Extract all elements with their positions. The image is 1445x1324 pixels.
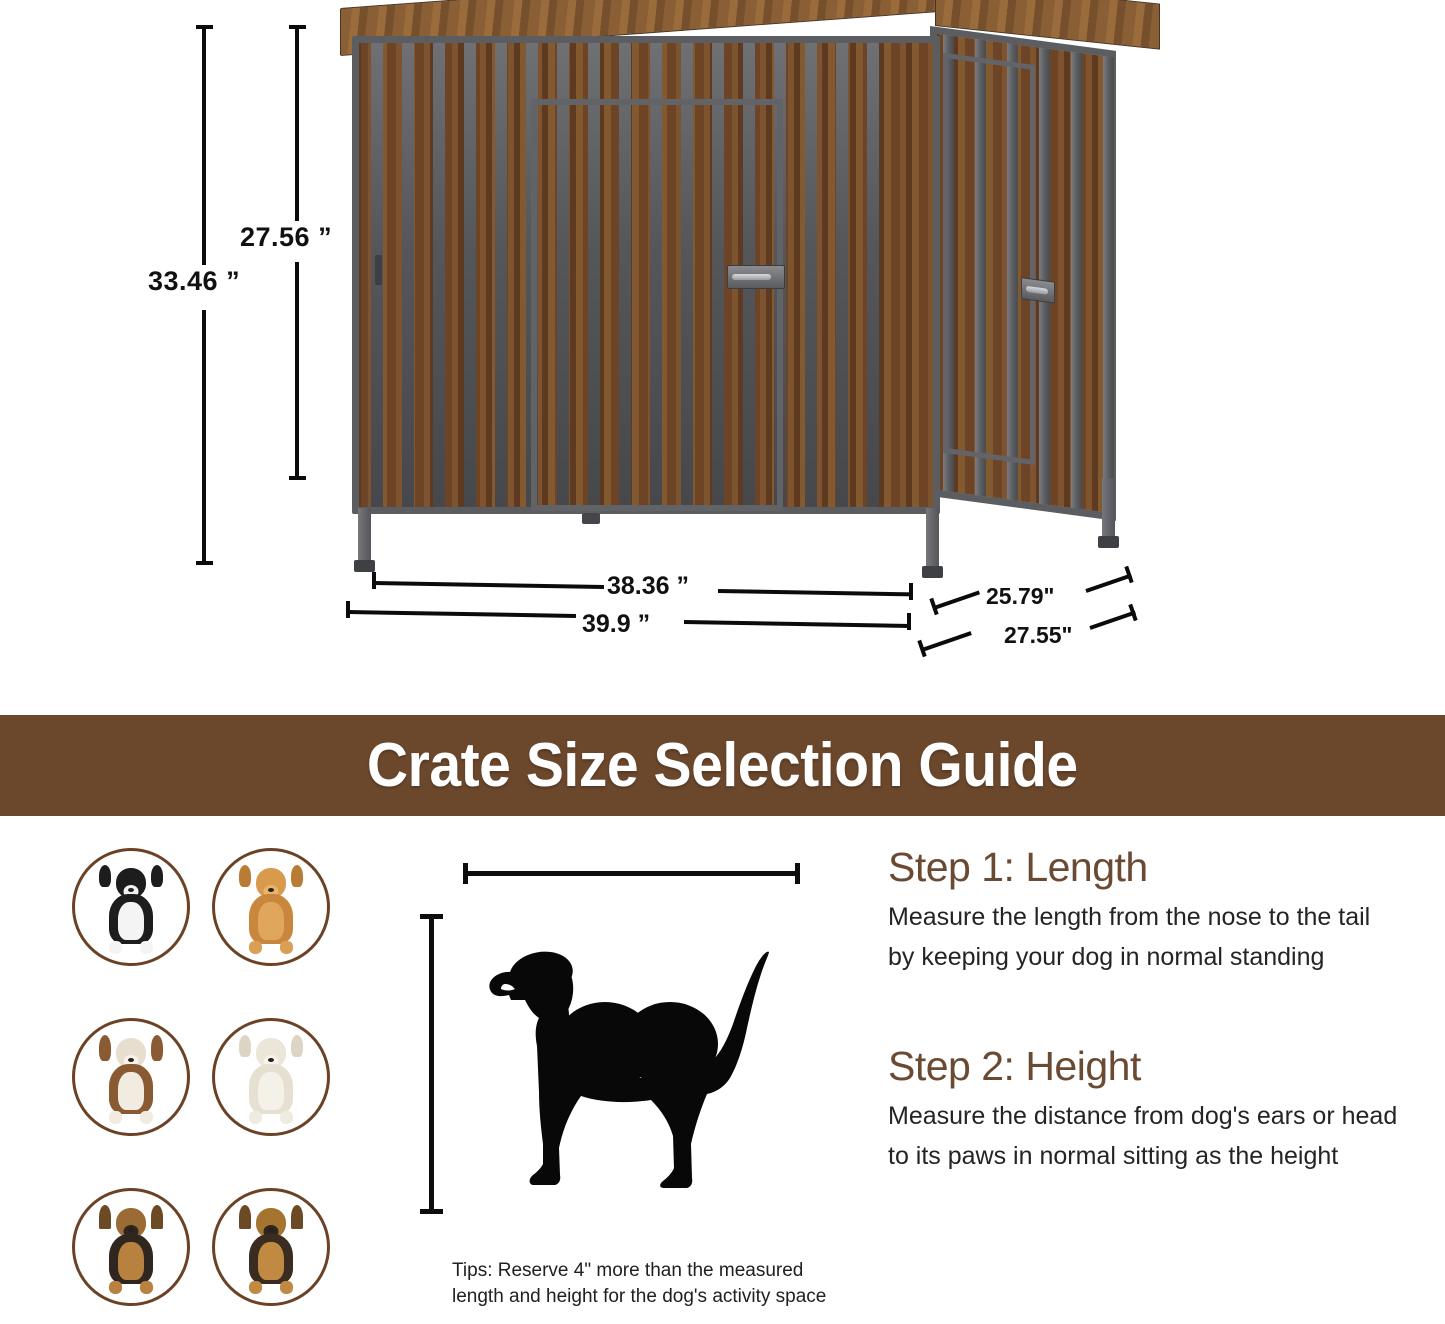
golden-retriever-image [240,868,302,954]
height-inner-label: 27.56 ” [240,222,332,253]
width-outer-cap-left [346,601,350,618]
breed-circle-border-collie [72,848,190,966]
crate-front-latch[interactable] [727,265,785,289]
height-outer-label: 33.46 ” [148,266,240,297]
crate-leg-back-right [1102,478,1115,540]
crate-leg-front-right [926,508,939,570]
breed-gallery [72,848,332,1318]
depth-outer-line-left [921,631,971,652]
crate-side-door[interactable] [943,53,1035,465]
step-2-block: Step 2: Height Measure the distance from… [888,1043,1398,1176]
breed-circle-german-shepherd-2 [212,1188,330,1306]
dog-measurement-diagram [415,836,835,1236]
height-outer-line-top [202,25,206,265]
depth-outer-label: 27.55" [1004,622,1072,649]
height-inner-cap-top [289,25,306,29]
height-bar-cap-bottom [420,1209,443,1214]
length-measurement-bar [463,871,800,876]
labrador-image [240,1038,302,1124]
width-outer-line-left [348,610,576,618]
width-inner-cap-right [909,583,913,600]
crate-front-door[interactable] [531,99,783,511]
measurement-steps: Step 1: Length Measure the length from t… [888,844,1398,1220]
width-outer-line-right [684,620,911,628]
length-bar-cap-right [795,863,800,884]
breed-circle-labrador [212,1018,330,1136]
step-1-body: Measure the length from the nose to the … [888,897,1398,977]
width-inner-cap-left [372,572,376,589]
length-bar-cap-left [463,863,468,884]
height-inner-cap-bottom [289,476,306,480]
dog-crate-furniture-image [330,8,1150,608]
crate-leg-front-left [358,508,371,564]
step-2-body: Measure the distance from dog's ears or … [888,1096,1398,1176]
tips-note: Tips: Reserve 4" more than the measured … [452,1258,837,1310]
step-1-block: Step 1: Length Measure the length from t… [888,844,1398,977]
crate-size-guide-section: Step 1: Length Measure the length from t… [0,816,1445,1324]
crate-door-hinge [375,255,382,285]
height-outer-cap-bottom [196,561,213,565]
infographic-page: 33.46 ” 27.56 ” 38.36 ” 39.9 ” 25.79" 27… [0,0,1445,1324]
height-measurement-bar [429,914,434,1214]
product-photo-section: 33.46 ” 27.56 ” 38.36 ” 39.9 ” 25.79" 27… [0,0,1445,715]
border-collie-image [100,868,162,954]
german-shepherd-2-image [240,1208,302,1294]
crate-front-panel [352,36,940,514]
height-inner-line-top [295,25,299,221]
guide-banner-title: Crate Size Selection Guide [367,730,1078,801]
depth-inner-label: 25.79" [986,583,1054,610]
crate-foot-back-right [1098,536,1119,548]
breed-circle-german-shepherd [72,1188,190,1306]
crate-foot-front-right [922,566,943,578]
height-outer-cap-top [196,25,213,29]
width-inner-label: 38.36 ” [607,572,689,601]
step-2-title: Step 2: Height [888,1043,1398,1090]
width-outer-cap-right [907,613,911,630]
width-outer-label: 39.9 ” [582,610,650,639]
height-bar-cap-top [420,914,443,919]
standing-dog-silhouette-icon [455,896,805,1216]
crate-side-latch[interactable] [1021,277,1055,304]
step-1-title: Step 1: Length [888,844,1398,891]
height-outer-line-bottom [202,310,206,565]
crate-center-support [582,513,600,524]
height-inner-line-bottom [295,262,299,480]
crate-foot-front-left [354,560,375,572]
guide-banner: Crate Size Selection Guide [0,715,1445,816]
breed-circle-beagle [72,1018,190,1136]
crate-side-panel [930,26,1116,521]
breed-circle-golden-retriever [212,848,330,966]
german-shepherd-image [100,1208,162,1294]
depth-outer-line-right [1089,610,1136,629]
beagle-image [100,1038,162,1124]
